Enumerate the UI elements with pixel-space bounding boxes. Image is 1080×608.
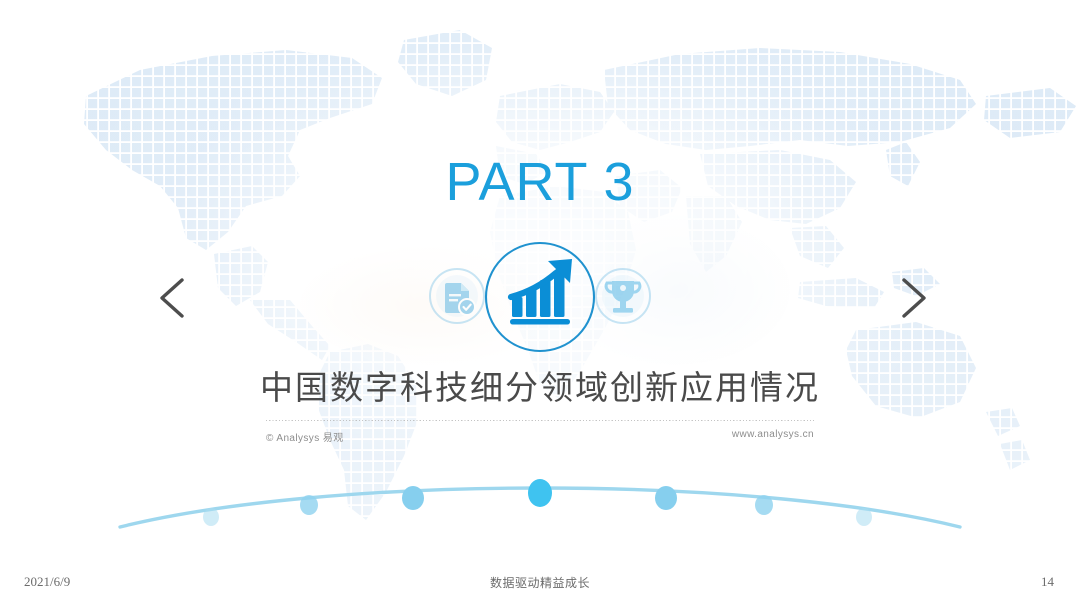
title-divider <box>266 420 814 421</box>
title-block: 中国数字科技细分领域创新应用情况 © Analysys 易观 www.analy… <box>200 368 880 445</box>
attribution-website[interactable]: www.analysys.cn <box>732 429 814 440</box>
progress-dot <box>655 486 677 510</box>
trophy-icon <box>590 263 656 329</box>
progress-dot-active <box>528 479 552 507</box>
progress-dot <box>203 508 219 526</box>
progress-dot <box>856 508 872 526</box>
slide-canvas: PART 3 <box>0 0 1080 608</box>
part-label: PART 3 <box>0 152 1080 212</box>
page-title: 中国数字科技细分领域创新应用情况 <box>200 368 880 408</box>
footer-tagline: 数据驱动精益成长 <box>0 574 1080 591</box>
attribution-row: © Analysys 易观 www.analysys.cn <box>266 429 814 445</box>
icon-cluster <box>420 235 660 361</box>
progress-dot <box>402 486 424 510</box>
slide-progress-arc <box>0 455 1080 550</box>
chevron-right-icon[interactable] <box>888 272 936 324</box>
chevron-left-icon[interactable] <box>150 272 198 324</box>
progress-dot <box>755 495 773 515</box>
bar-chart-growth-icon <box>476 235 604 361</box>
footer-page-number: 14 <box>1041 574 1054 590</box>
progress-dot <box>300 495 318 515</box>
attribution-copyright: © Analysys 易观 <box>266 429 344 444</box>
slide-footer: 2021/6/9 数据驱动精益成长 14 <box>0 560 1080 608</box>
